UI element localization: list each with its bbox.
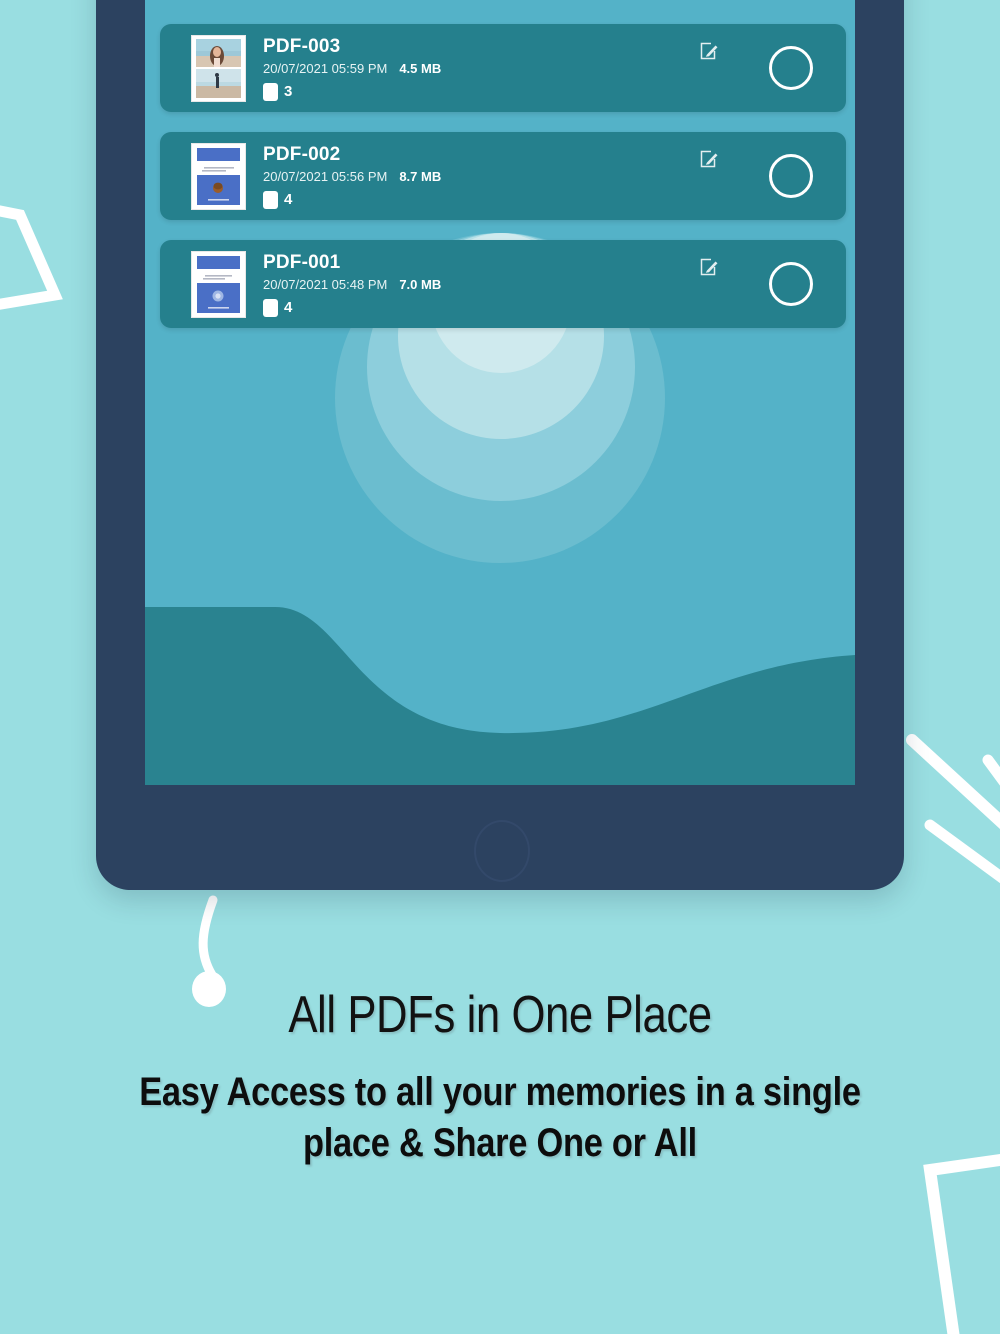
pdf-name: PDF-003 [263, 36, 846, 58]
subheadline: Easy Access to all your memories in a si… [70, 1067, 930, 1169]
pdf-page-count: 3 [284, 84, 292, 100]
pdf-thumbnail[interactable] [191, 35, 246, 102]
burst-stroke-2-icon [930, 825, 1000, 880]
page-icon [263, 299, 278, 317]
select-toggle[interactable] [769, 262, 813, 306]
pdf-size: 4.5 MB [399, 61, 441, 77]
stem-icon [203, 900, 213, 975]
edit-square-icon [699, 41, 719, 61]
home-button[interactable] [474, 820, 530, 882]
pdf-date: 20/07/2021 05:56 PM [263, 169, 387, 185]
burst-stroke-3-icon [988, 760, 1000, 790]
page-icon [263, 191, 278, 209]
select-toggle[interactable] [769, 154, 813, 198]
pdf-date: 20/07/2021 05:59 PM [263, 61, 387, 77]
pdf-list: PDF-003 20/07/2021 05:59 PM 4.5 MB 3 [160, 24, 846, 348]
pdf-thumbnail[interactable] [191, 251, 246, 318]
subheadline-line-1: Easy Access to all your memories in a si… [70, 1067, 930, 1118]
list-item[interactable]: PDF-003 20/07/2021 05:59 PM 4.5 MB 3 [160, 24, 846, 112]
pdf-meta: 20/07/2021 05:56 PM 8.7 MB [263, 169, 846, 185]
edit-button[interactable] [699, 41, 719, 61]
burst-stroke-1-icon [912, 740, 1000, 830]
pdf-pages: 4 [263, 191, 846, 209]
edit-button[interactable] [699, 257, 719, 277]
pdf-date: 20/07/2021 05:48 PM [263, 277, 387, 293]
edit-square-icon [699, 257, 719, 277]
pdf-thumbnail[interactable] [191, 143, 246, 210]
pdf-name: PDF-002 [263, 144, 846, 166]
page-icon [263, 83, 278, 101]
pdf-meta: 20/07/2021 05:59 PM 4.5 MB [263, 61, 846, 77]
list-item[interactable]: PDF-002 20/07/2021 05:56 PM 8.7 MB 4 [160, 132, 846, 220]
pdf-page-count: 4 [284, 300, 292, 316]
list-item[interactable]: PDF-001 20/07/2021 05:48 PM 7.0 MB 4 [160, 240, 846, 328]
pdf-page-count: 4 [284, 192, 292, 208]
pdf-name: PDF-001 [263, 252, 846, 274]
wave-decoration [145, 555, 855, 785]
caption-block: All PDFs in One Place Easy Access to all… [0, 985, 1000, 1169]
tablet-device: My PDFs [96, 0, 904, 890]
pdf-info: PDF-002 20/07/2021 05:56 PM 8.7 MB 4 [263, 144, 846, 209]
leaf-outline-right-icon [930, 1155, 1000, 1334]
pdf-size: 8.7 MB [399, 169, 441, 185]
pdf-meta: 20/07/2021 05:48 PM 7.0 MB [263, 277, 846, 293]
tablet-screen: My PDFs [145, 0, 855, 785]
subheadline-line-2: place & Share One or All [70, 1118, 930, 1169]
pdf-info: PDF-001 20/07/2021 05:48 PM 7.0 MB 4 [263, 252, 846, 317]
leaf-outline-left-icon [0, 205, 55, 305]
pdf-pages: 3 [263, 83, 846, 101]
pdf-pages: 4 [263, 299, 846, 317]
edit-square-icon [699, 149, 719, 169]
select-toggle[interactable] [769, 46, 813, 90]
pdf-info: PDF-003 20/07/2021 05:59 PM 4.5 MB 3 [263, 36, 846, 101]
pdf-size: 7.0 MB [399, 277, 441, 293]
headline: All PDFs in One Place [80, 985, 920, 1045]
edit-button[interactable] [699, 149, 719, 169]
